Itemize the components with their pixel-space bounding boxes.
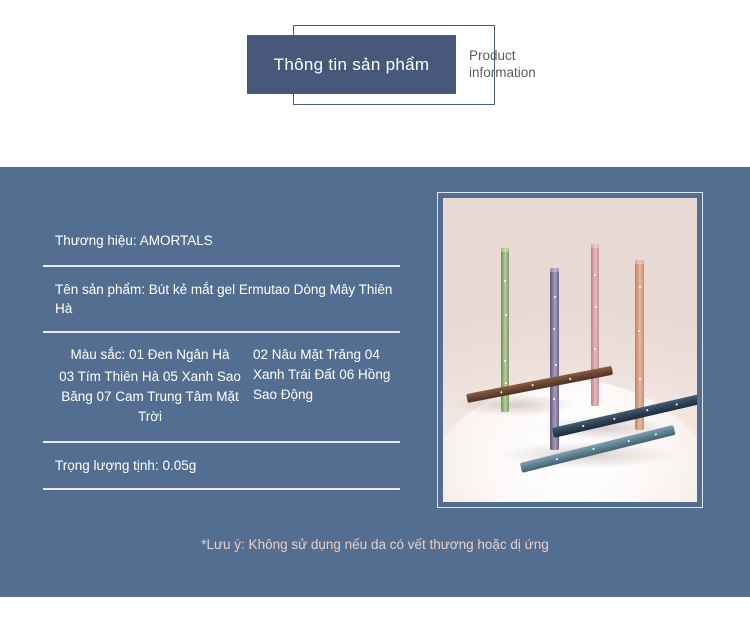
spec-net-weight-text: Trọng lượng tịnh: 0.05g <box>43 443 400 488</box>
pencil-speck <box>505 314 507 316</box>
spec-colors-left-column: Màu sắc: 01 Đen Ngân Hà 03 Tím Thiên Hà … <box>55 345 245 427</box>
pencil-speck <box>594 274 596 276</box>
pencil-speck <box>592 448 594 450</box>
pencil-speck <box>613 418 615 420</box>
pencil-cap <box>550 268 559 272</box>
pencil-speck <box>582 425 584 427</box>
pencil-speck <box>638 330 640 332</box>
header-band: Thông tin sản phẩm Product information <box>0 0 750 150</box>
pencil-speck <box>646 409 648 411</box>
pencil-speck <box>639 286 641 288</box>
pencil-cap <box>635 260 644 264</box>
pencil-speck <box>504 280 506 282</box>
peach-pencil <box>635 260 644 430</box>
spec-list: Thương hiệu: AMORTALS Tên sản phẩm: Bút … <box>43 231 400 490</box>
spec-row-product-name: Tên sản phẩm: Bút kẻ mắt gel Ermutao Dòn… <box>43 267 400 333</box>
divider <box>43 488 400 490</box>
product-photo <box>443 198 697 502</box>
product-image-frame <box>437 192 703 508</box>
pencil-speck <box>554 296 556 298</box>
spec-row-net-weight: Trọng lượng tịnh: 0.05g <box>43 443 400 490</box>
pencil-speck <box>594 348 596 350</box>
pencil-speck <box>553 328 555 330</box>
pencil-speck <box>627 440 629 442</box>
spec-product-name-text: Tên sản phẩm: Bút kẻ mắt gel Ermutao Dòn… <box>43 267 400 331</box>
pencil-speck <box>595 306 597 308</box>
pink-pencil <box>591 244 599 406</box>
purple-pencil <box>550 268 559 450</box>
pencil-speck <box>676 403 678 405</box>
spec-colors-left-rest: 03 Tím Thiên Hà 05 Xanh Sao Băng 07 Cam … <box>59 369 241 424</box>
spec-brand-text: Thương hiệu: AMORTALS <box>43 231 400 265</box>
pencil-speck <box>556 458 558 460</box>
pencil-speck <box>500 391 502 393</box>
spec-row-brand: Thương hiệu: AMORTALS <box>43 231 400 267</box>
pencil-speck <box>639 378 641 380</box>
product-info-panel: Thương hiệu: AMORTALS Tên sản phẩm: Bút … <box>0 167 750 597</box>
pencil-cap <box>591 244 599 248</box>
pencil-speck <box>655 433 657 435</box>
spec-colors-label: Màu sắc: 01 Đen Ngân Hà <box>55 345 245 365</box>
spec-row-colors: Màu sắc: 01 Đen Ngân Hà 03 Tím Thiên Hà … <box>43 333 400 443</box>
pencil-cap <box>501 248 509 252</box>
pencil-speck <box>505 382 507 384</box>
warning-note: *Lưu ý: Không sử dụng nếu da có vết thươ… <box>0 537 750 552</box>
header-title-box: Thông tin sản phẩm <box>247 35 456 94</box>
pencil-speck <box>504 360 506 362</box>
pencil-speck <box>555 364 557 366</box>
header-subtitle-line2: information <box>469 64 559 81</box>
header-subtitle-line1: Product <box>469 47 559 64</box>
page-title: Thông tin sản phẩm <box>274 55 430 75</box>
pencil-speck <box>532 384 534 386</box>
header-subtitle-english: Product information <box>469 47 559 81</box>
pencil-speck <box>553 398 555 400</box>
pencil-speck <box>569 378 571 380</box>
spec-colors-right-column: 02 Nâu Mặt Trăng 04 Xanh Trái Đất 06 Hồn… <box>245 345 395 427</box>
